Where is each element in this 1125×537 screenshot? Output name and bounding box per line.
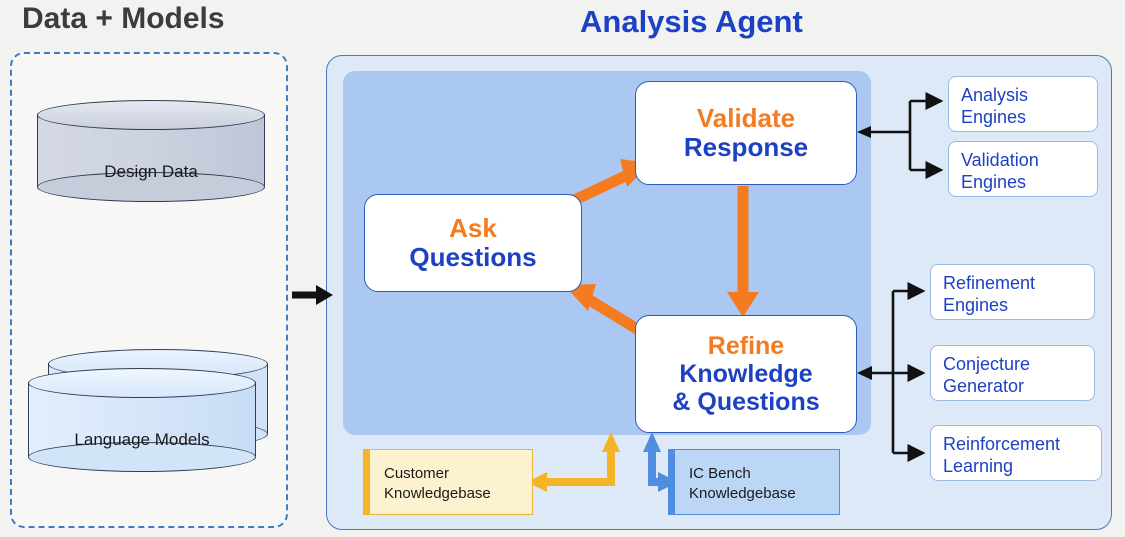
validation-engines-line1: Validation	[961, 150, 1097, 172]
design-data-cylinder: Design Data	[37, 100, 265, 202]
refine-line2: Knowledge	[679, 360, 812, 388]
refinement-engines-line2: Engines	[943, 295, 1094, 317]
analysis-engines-line1: Analysis	[961, 85, 1097, 107]
reinforcement-learning-box[interactable]: Reinforcement Learning	[930, 425, 1102, 481]
ic-bench-knowledgebase-box[interactable]: IC Bench Knowledgebase	[668, 449, 840, 515]
cylinder-top	[28, 368, 256, 398]
analysis-agent-title: Analysis Agent	[580, 4, 803, 40]
validation-engines-line2: Engines	[961, 172, 1097, 194]
conjecture-generator-line1: Conjecture	[943, 354, 1094, 376]
refinement-engines-line1: Refinement	[943, 273, 1094, 295]
ask-questions-box[interactable]: Ask Questions	[364, 194, 582, 292]
ask-line2: Questions	[409, 243, 536, 272]
ask-line1: Ask	[449, 214, 497, 243]
refine-line1: Refine	[708, 332, 784, 360]
validate-line1: Validate	[697, 104, 795, 133]
analysis-engines-box[interactable]: Analysis Engines	[948, 76, 1098, 132]
validation-engines-box[interactable]: Validation Engines	[948, 141, 1098, 197]
reinforcement-learning-line2: Learning	[943, 456, 1101, 478]
data-models-title: Data + Models	[22, 2, 225, 36]
validate-line2: Response	[684, 133, 808, 162]
design-data-label: Design Data	[37, 162, 265, 182]
analysis-engines-line2: Engines	[961, 107, 1097, 129]
refine-knowledge-box[interactable]: Refine Knowledge & Questions	[635, 315, 857, 433]
language-models-cylinder-front: Language Models	[28, 368, 256, 472]
customer-kb-line2: Knowledgebase	[384, 484, 532, 504]
conjecture-generator-box[interactable]: Conjecture Generator	[930, 345, 1095, 401]
ic-bench-kb-line2: Knowledgebase	[689, 484, 839, 504]
refine-line3: & Questions	[672, 388, 819, 416]
customer-kb-line1: Customer	[384, 464, 532, 484]
cylinder-top	[37, 100, 265, 130]
reinforcement-learning-line1: Reinforcement	[943, 434, 1101, 456]
diagram-canvas: Data + Models Design Data Language Model…	[0, 0, 1125, 537]
ic-bench-kb-line1: IC Bench	[689, 464, 839, 484]
customer-knowledgebase-box[interactable]: Customer Knowledgebase	[363, 449, 533, 515]
validate-response-box[interactable]: Validate Response	[635, 81, 857, 185]
refinement-engines-box[interactable]: Refinement Engines	[930, 264, 1095, 320]
language-models-label: Language Models	[28, 430, 256, 450]
conjecture-generator-line2: Generator	[943, 376, 1094, 398]
